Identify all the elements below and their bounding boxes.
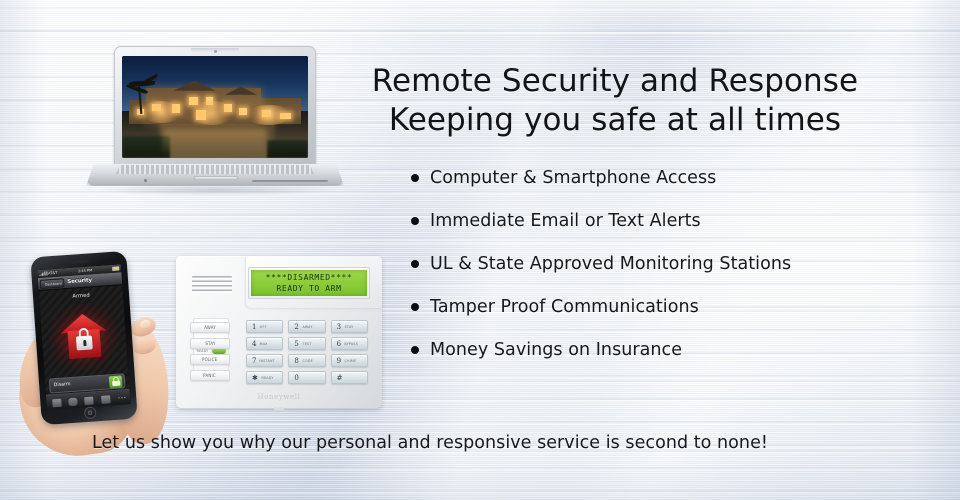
numkey-digit: 8	[294, 357, 298, 365]
nav-title: Security	[68, 277, 93, 285]
photo-driveway-reflection	[163, 129, 267, 156]
lcd-line-2: READY TO ARM	[277, 283, 342, 294]
laptop-lid	[114, 46, 316, 168]
green-lock-body	[112, 381, 120, 387]
laptop-trackpad	[194, 176, 238, 180]
numkey-sublabel: OFF	[260, 324, 267, 328]
numkey-digit: ✱	[252, 374, 258, 382]
bullet-dot-icon	[411, 346, 419, 354]
keypad-bottom-notch	[274, 405, 284, 411]
phone-screen: AT&T 2:45 PM Dashboard Security Armed	[37, 264, 131, 410]
security-promo-banner: ARMED READY ****DISARMED**** READY TO AR…	[0, 0, 960, 500]
numkey-sublabel: INSTANT	[260, 358, 276, 362]
numkey-sublabel: STAY	[345, 324, 354, 328]
armed-house-lock-icon	[55, 308, 112, 364]
numkey-digit: 3	[337, 323, 341, 331]
status-bar-left: AT&T	[39, 271, 57, 276]
numkey-6[interactable]: 6BYPASS	[331, 337, 368, 350]
numkey-digit: 1	[252, 323, 256, 331]
list-item-label: Computer & Smartphone Access	[430, 168, 716, 188]
numkey-7[interactable]: 7INSTANT	[246, 354, 283, 367]
webcam-icon	[214, 50, 217, 53]
status-bar-right	[112, 267, 119, 271]
carrier-label: AT&T	[48, 271, 57, 276]
numkey-1[interactable]: 1OFF	[246, 320, 283, 333]
numkey-sublabel: BYPASS	[345, 341, 359, 345]
numkey-sublabel: CHIME	[345, 358, 357, 362]
bullet-dot-icon	[411, 260, 419, 268]
alarm-keypad-illustration: ARMED READY ****DISARMED**** READY TO AR…	[176, 256, 382, 408]
numkey-digit: 0	[294, 374, 298, 382]
list-item: Tamper Proof Communications	[406, 292, 876, 335]
history-tab-icon[interactable]	[101, 395, 111, 404]
list-item-label: Money Savings on Insurance	[430, 340, 682, 360]
function-key-label: AWAY	[204, 325, 216, 330]
disarm-button-label: Disarm	[54, 382, 71, 388]
unlock-green-icon	[109, 375, 123, 388]
list-item: Computer & Smartphone Access	[406, 163, 876, 206]
home-button-square	[88, 411, 92, 415]
phone-content-area: Armed Disarm	[39, 285, 131, 410]
numkey-sublabel: READY	[261, 375, 273, 379]
numkey-digit: 2	[294, 323, 298, 331]
earpiece-speaker	[69, 259, 89, 263]
list-item-label: Immediate Email or Text Alerts	[430, 211, 701, 231]
feature-list: Computer & Smartphone Access Immediate E…	[406, 163, 876, 378]
laptop-sleep-led	[144, 179, 147, 182]
keypad-lcd-frame: ****DISARMED**** READY TO ARM	[248, 267, 370, 299]
numkey-hash[interactable]: #	[331, 371, 368, 384]
function-key-label: POLICE	[202, 357, 217, 362]
photo-lawn-right	[267, 140, 308, 158]
clock-label: 2:45 PM	[78, 268, 92, 273]
numkey-digit: 5	[294, 340, 298, 348]
function-key-stay[interactable]: STAY	[190, 338, 230, 349]
home-tab-icon[interactable]	[52, 398, 62, 407]
lock-keyhole-icon	[83, 340, 86, 346]
house-photo	[122, 56, 308, 158]
numkey-0[interactable]: 0	[288, 371, 325, 384]
speaker-grille-icon	[192, 276, 232, 293]
function-key-label: PANIC	[204, 373, 217, 378]
numkey-digit: #	[337, 374, 343, 382]
devices-tab-icon[interactable]	[68, 397, 78, 406]
numkey-2[interactable]: 2AWAY	[288, 320, 325, 333]
house-icon	[59, 312, 108, 359]
numkey-5[interactable]: 5TEST	[288, 337, 325, 350]
list-item-label: UL & State Approved Monitoring Stations	[430, 254, 791, 274]
more-tab-icon[interactable]: •••	[117, 394, 125, 402]
smartphone: AT&T 2:45 PM Dashboard Security Armed	[30, 251, 137, 425]
photo-light-glow	[189, 101, 234, 125]
signal-bars-icon	[39, 271, 47, 276]
photo-light-glow	[141, 101, 182, 123]
list-item: Money Savings on Insurance	[406, 335, 876, 378]
keypad-lcd-display: ****DISARMED**** READY TO ARM	[251, 270, 367, 296]
function-key-panic[interactable]: PANIC	[190, 370, 230, 381]
home-button[interactable]	[84, 406, 97, 419]
laptop-keyboard	[116, 165, 314, 174]
keypad-number-pad: 1OFF 2AWAY 3STAY 4MAX 5TEST 6BYPASS 7INS…	[246, 320, 368, 384]
numkey-digit: 6	[337, 340, 341, 348]
function-key-police[interactable]: POLICE	[190, 354, 230, 365]
numkey-3[interactable]: 3STAY	[331, 320, 368, 333]
bullet-dot-icon	[411, 174, 419, 182]
list-item-label: Tamper Proof Communications	[430, 297, 699, 317]
keypad-brand-label: Honeywell	[258, 393, 301, 401]
list-item: UL & State Approved Monitoring Stations	[406, 249, 876, 292]
armed-status-label: Armed	[37, 290, 125, 302]
video-tab-icon[interactable]	[85, 396, 95, 405]
tagline: Let us show you why our personal and res…	[92, 433, 882, 453]
laptop-disc-slot	[252, 180, 328, 182]
keypad-function-keys: AWAY STAY POLICE PANIC	[190, 322, 236, 386]
lcd-line-1: ****DISARMED****	[266, 272, 353, 283]
bullet-dot-icon	[411, 217, 419, 225]
back-button[interactable]: Dashboard	[40, 278, 65, 289]
list-item: Immediate Email or Text Alerts	[406, 206, 876, 249]
numkey-digit: 4	[252, 340, 256, 348]
numkey-sublabel: MAX	[260, 341, 268, 345]
function-key-label: STAY	[205, 341, 215, 346]
numkey-digit: 7	[252, 357, 256, 365]
battery-icon	[112, 267, 119, 271]
numkey-9[interactable]: 9CHIME	[331, 354, 368, 367]
laptop-screen	[122, 56, 308, 158]
numkey-sublabel: TEST	[302, 341, 311, 345]
function-key-away[interactable]: AWAY	[190, 322, 230, 333]
headline-line-2: Keeping you safe at all times	[345, 101, 885, 140]
headline-line-1: Remote Security and Response	[372, 63, 858, 99]
bullet-dot-icon	[411, 303, 419, 311]
numkey-sublabel: AWAY	[302, 324, 312, 328]
smartphone-in-hand-illustration: AT&T 2:45 PM Dashboard Security Armed	[12, 248, 172, 458]
numkey-digit: 9	[337, 357, 341, 365]
laptop-illustration	[86, 46, 344, 198]
numkey-sublabel: CODE	[302, 358, 312, 362]
page-title: Remote Security and Response Keeping you…	[345, 62, 885, 140]
numkey-star[interactable]: ✱READY	[246, 371, 283, 384]
numkey-8[interactable]: 8CODE	[288, 354, 325, 367]
numkey-4[interactable]: 4MAX	[246, 337, 283, 350]
